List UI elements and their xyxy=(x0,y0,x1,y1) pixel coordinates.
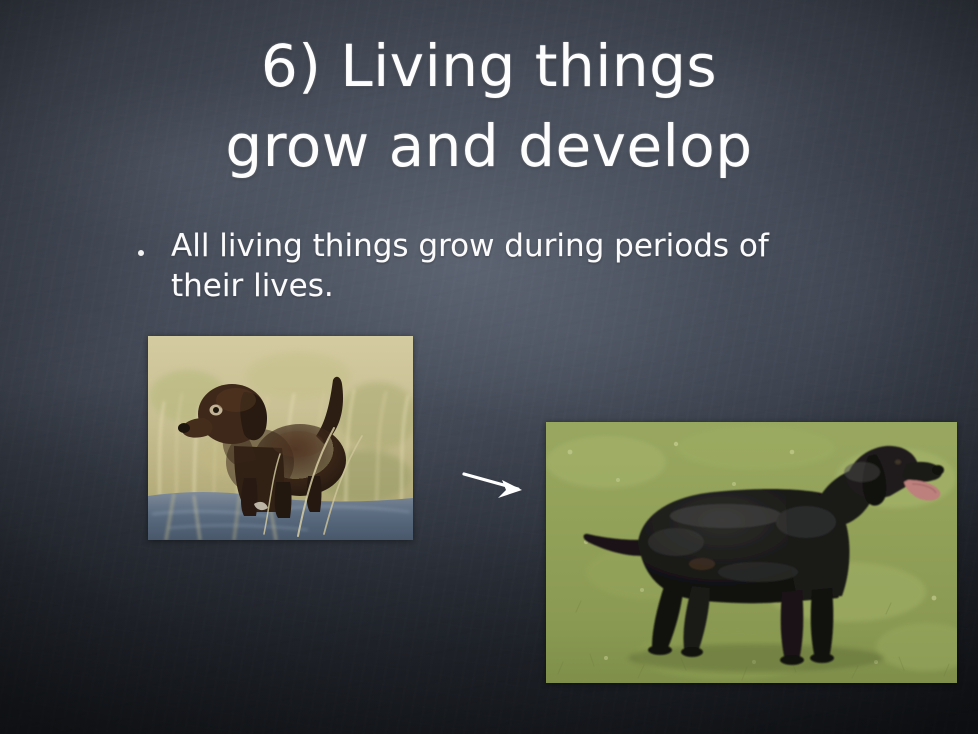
adult-dog-photo xyxy=(546,422,957,683)
puppy-photo xyxy=(148,336,413,540)
growth-arrow-icon xyxy=(462,464,536,506)
slide-canvas: 6) Living things grow and develop All li… xyxy=(0,0,978,734)
slide-title-line-2: grow and develop xyxy=(0,106,978,186)
adult-dog-photo-illustration xyxy=(546,422,957,683)
slide-title-line-1: 6) Living things xyxy=(0,26,978,106)
puppy-photo-illustration xyxy=(148,336,413,540)
bullet-list-item: All living things grow during periods of… xyxy=(138,226,878,306)
growth-arrow-svg xyxy=(462,464,536,506)
bullet-point-icon xyxy=(138,250,144,256)
slide-title: 6) Living things grow and develop xyxy=(0,26,978,186)
bullet-item-text: All living things grow during periods of… xyxy=(171,226,843,306)
